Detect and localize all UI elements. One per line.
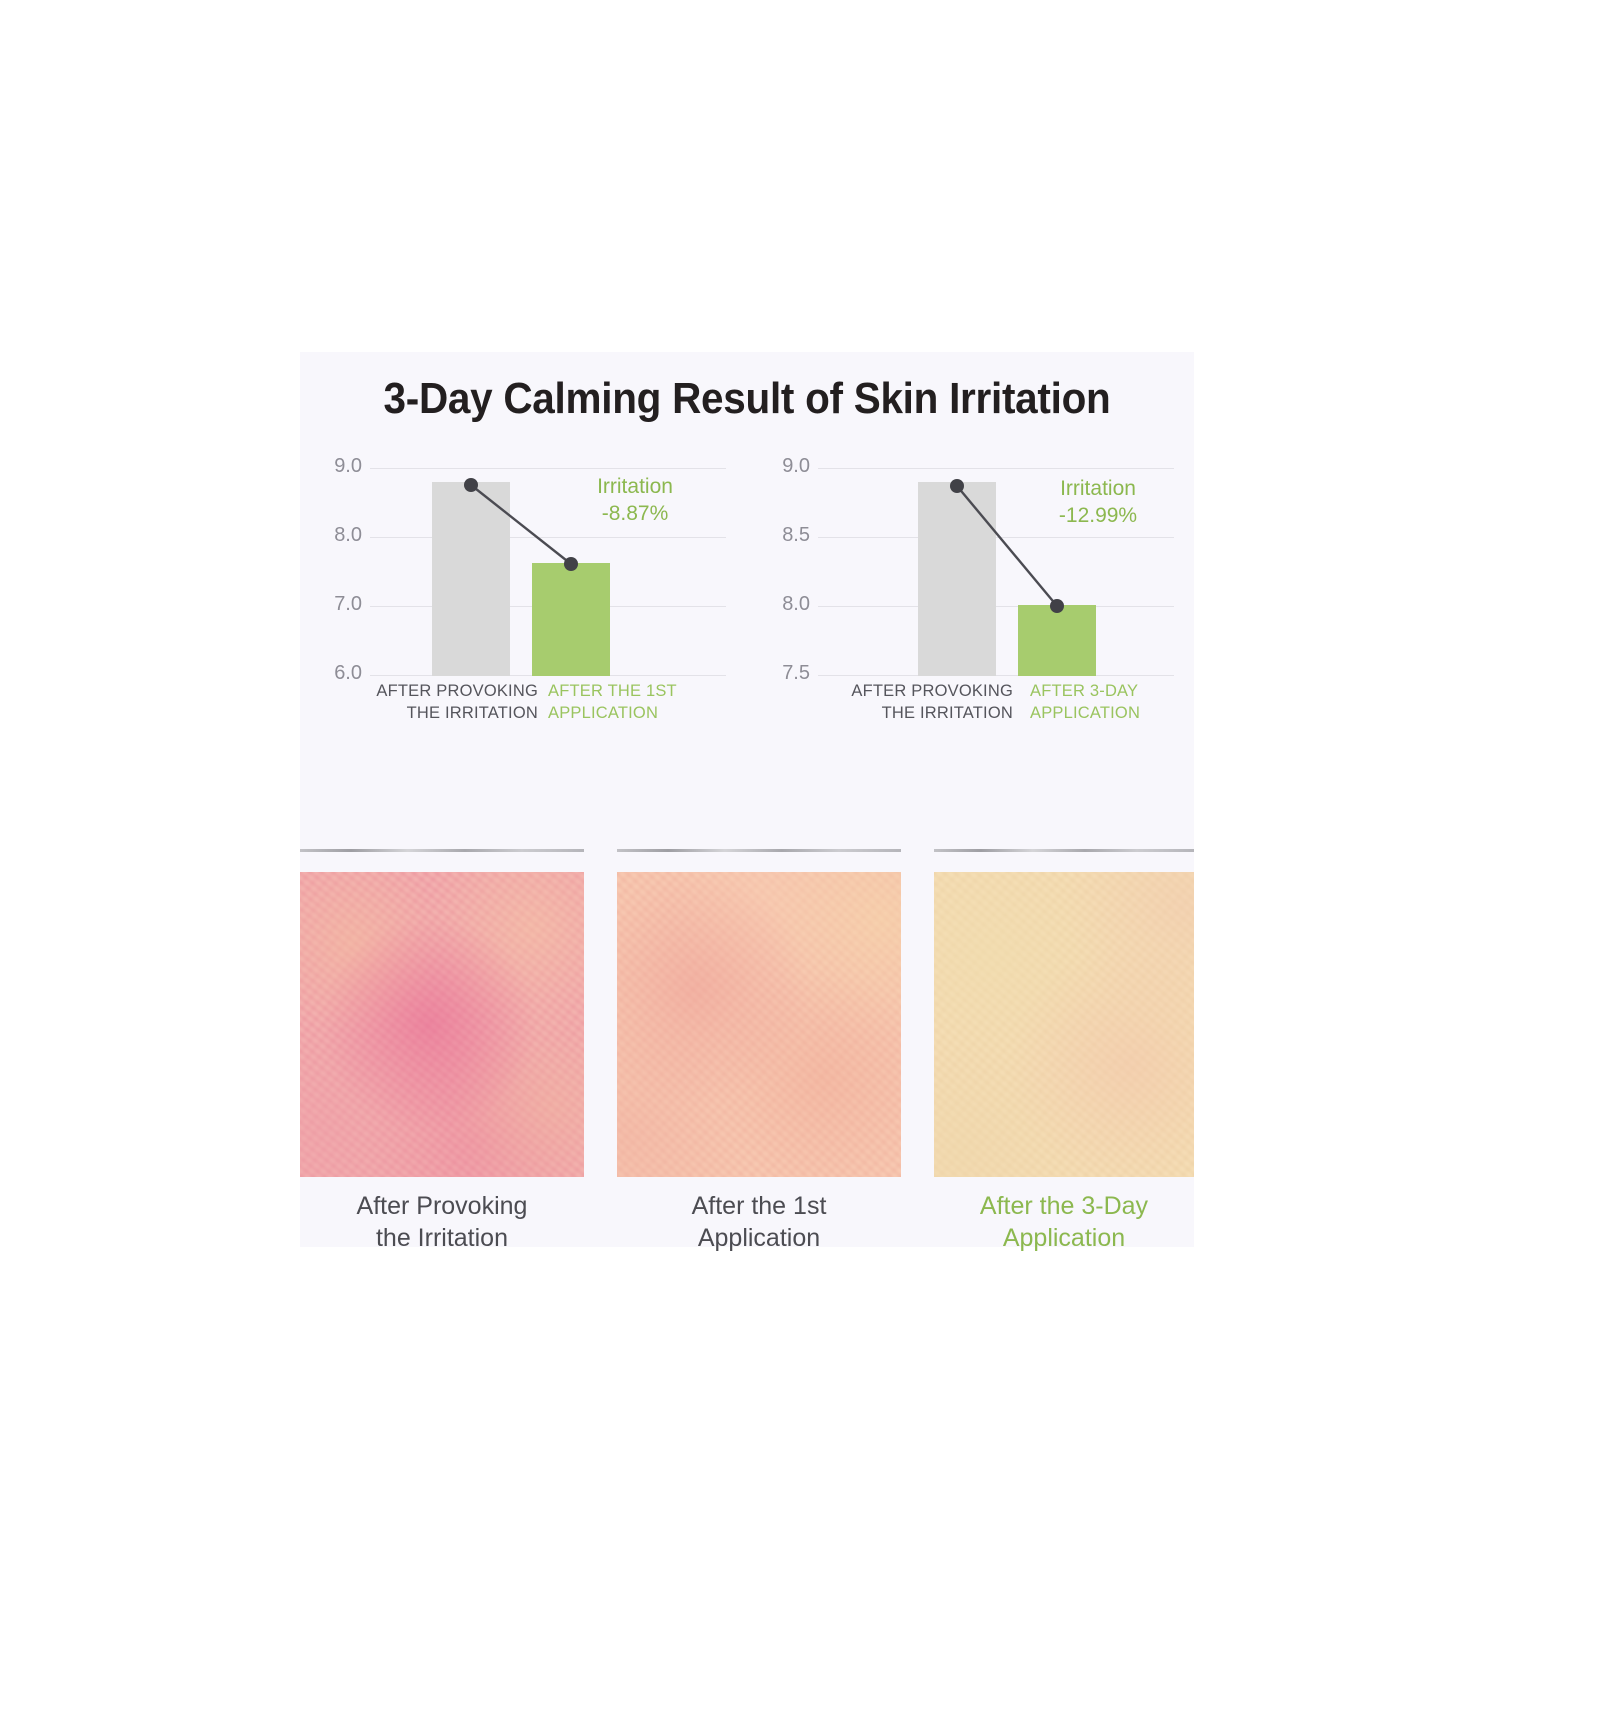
skin-photo-after-provoking [300, 872, 584, 1177]
charts-row: 9.0 8.0 7.0 6.0 [300, 464, 1194, 754]
annotation-value: -12.99% [1008, 503, 1188, 530]
photo-caption: After the 3-Day Application [934, 1190, 1194, 1254]
y-tick-label: 9.0 [766, 455, 810, 478]
irritation-annotation: Irritation -12.99% [1008, 476, 1188, 530]
chart-3-day-application: 9.0 8.5 8.0 7.5 [766, 464, 1186, 754]
ruler-line [300, 849, 584, 852]
skin-texture [617, 872, 901, 1177]
ruler-line [934, 849, 1194, 852]
irritation-annotation: Irritation -8.87% [540, 474, 730, 528]
photo-caption: After Provoking the Irritation [300, 1190, 584, 1254]
chart-plot-area: 9.0 8.0 7.0 6.0 [318, 464, 738, 676]
y-tick-label: 7.0 [318, 593, 362, 616]
annotation-value: -8.87% [540, 501, 730, 528]
skin-texture [934, 872, 1194, 1177]
y-tick-label: 7.5 [766, 662, 810, 685]
photo-caption: After the 1st Application [617, 1190, 901, 1254]
skin-texture [300, 872, 584, 1177]
y-tick-label: 9.0 [318, 455, 362, 478]
y-tick-label: 8.0 [318, 524, 362, 547]
annotation-label: Irritation [1008, 476, 1188, 503]
page-title: 3-Day Calming Result of Skin Irritation [336, 374, 1158, 424]
chart-1st-application: 9.0 8.0 7.0 6.0 [318, 464, 738, 754]
x-axis-labels: AFTER PROVOKING THE IRRITATION AFTER 3-D… [818, 680, 1174, 740]
x-label-after-provoking: AFTER PROVOKING THE IRRITATION [828, 680, 1013, 725]
ruler-line [617, 849, 901, 852]
y-tick-label: 8.5 [766, 524, 810, 547]
x-label-after-provoking: AFTER PROVOKING THE IRRITATION [358, 680, 538, 725]
y-tick-label: 8.0 [766, 593, 810, 616]
calming-result-panel: 3-Day Calming Result of Skin Irritation … [300, 352, 1194, 1247]
x-label-after-3-day-application: AFTER 3-DAY APPLICATION [1030, 680, 1210, 725]
skin-photos-row: After Provoking the Irritation After the… [300, 842, 1194, 1247]
y-tick-label: 6.0 [318, 662, 362, 685]
skin-photo-after-1st-application [617, 872, 901, 1177]
x-label-after-1st-application: AFTER THE 1ST APPLICATION [548, 680, 728, 725]
annotation-label: Irritation [540, 474, 730, 501]
x-axis-labels: AFTER PROVOKING THE IRRITATION AFTER THE… [370, 680, 726, 740]
chart-plot-area: 9.0 8.5 8.0 7.5 [766, 464, 1186, 676]
skin-photo-after-3-day-application [934, 872, 1194, 1177]
